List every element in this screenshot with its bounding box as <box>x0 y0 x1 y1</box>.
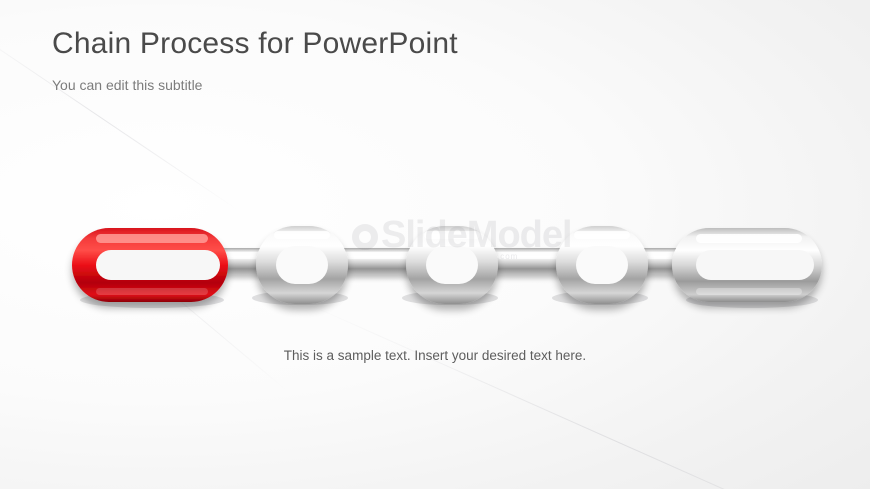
chain-link-9-horizontal[interactable] <box>672 228 822 302</box>
chain-link-1-highlighted[interactable] <box>72 228 228 302</box>
watermark-ring-icon <box>352 224 378 250</box>
page-subtitle: You can edit this subtitle <box>52 77 202 93</box>
background-streak <box>300 300 870 489</box>
page-title: Chain Process for PowerPoint <box>52 27 458 61</box>
sample-body-text: This is a sample text. Insert your desir… <box>0 348 870 363</box>
slide-canvas: Chain Process for PowerPoint You can edi… <box>0 0 870 489</box>
chain-link-3-upright[interactable] <box>256 226 348 304</box>
chain-link-7-upright[interactable] <box>556 226 648 304</box>
chain-link-5-upright[interactable] <box>406 226 498 304</box>
chain-process-diagram <box>0 0 870 489</box>
